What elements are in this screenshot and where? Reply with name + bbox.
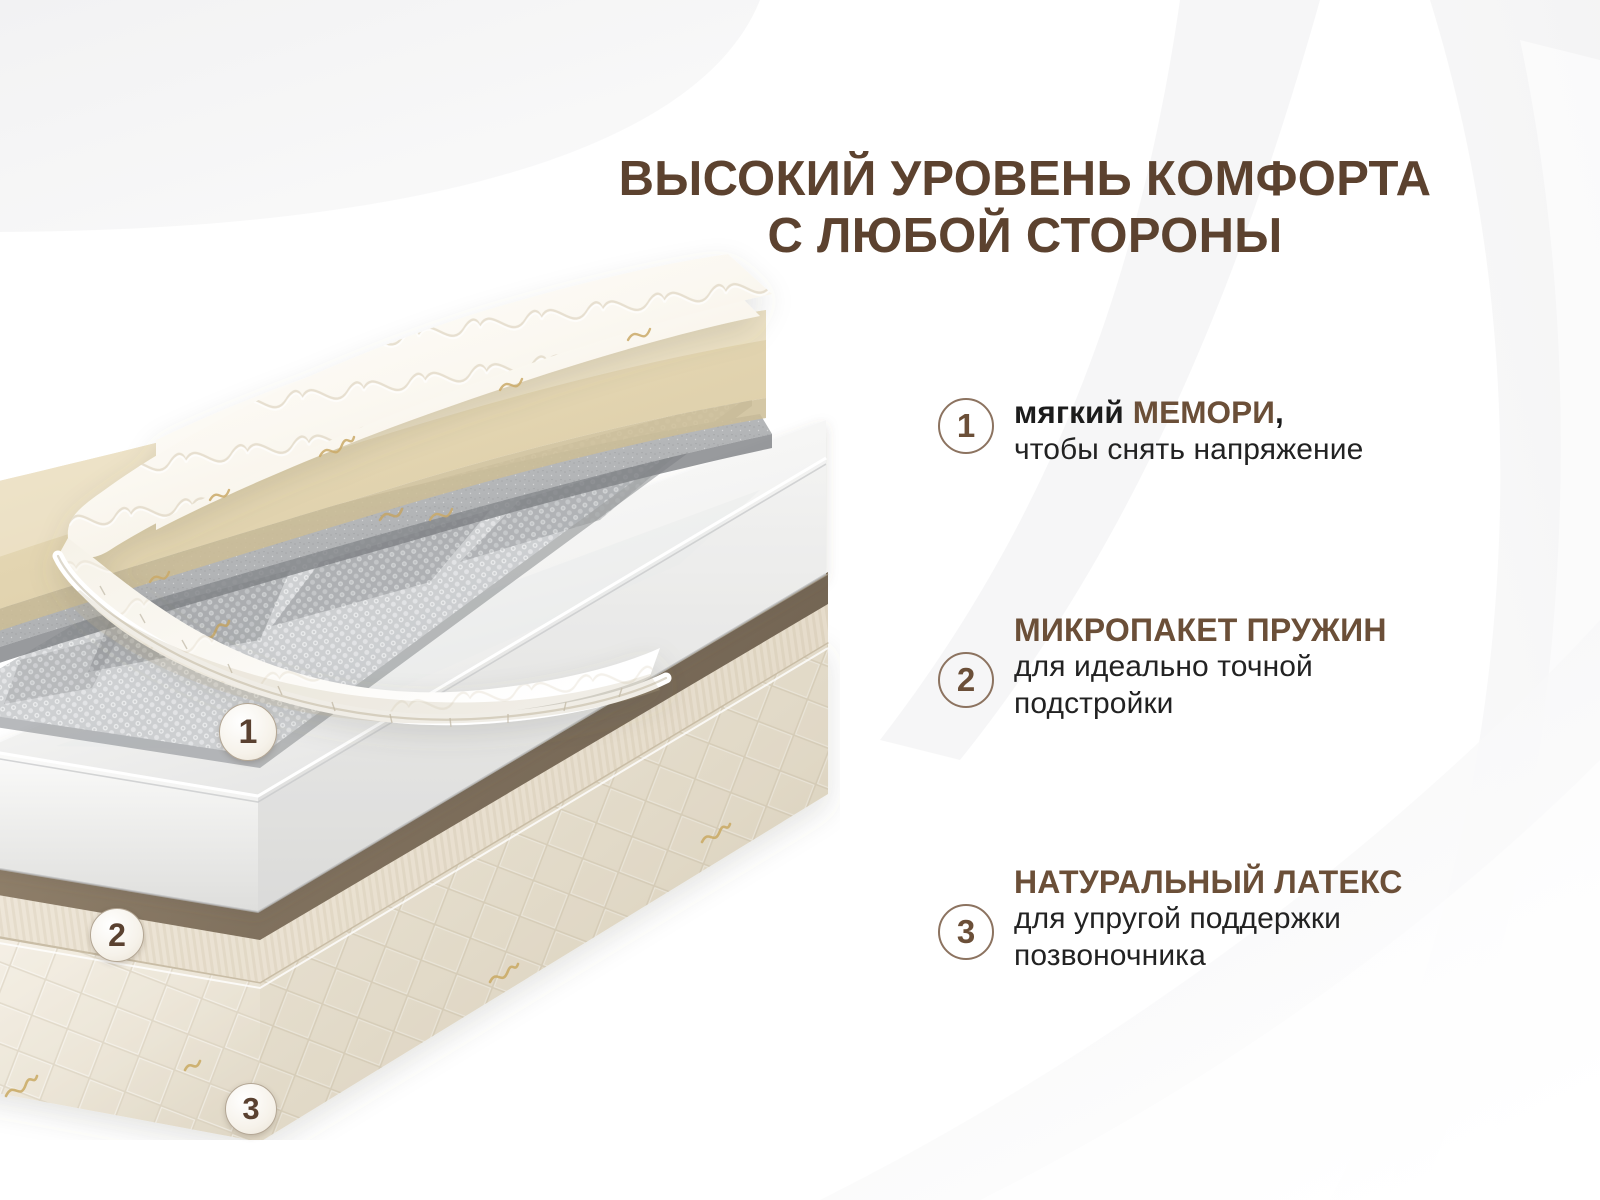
feature-badge-3: 3	[938, 904, 994, 960]
feature-title-1-tail: ,	[1275, 394, 1284, 430]
feature-title-1-accent: МЕМОРИ	[1133, 394, 1275, 430]
feature-text-1: мягкий МЕМОРИ, чтобы снять напряжение	[1014, 392, 1363, 468]
feature-title-3: НАТУРАЛЬНЫЙ ЛАТЕКС	[1014, 863, 1403, 901]
feature-title-1-plain: мягкий	[1014, 394, 1133, 430]
feature-title-2: МИКРОПАКЕТ ПРУЖИН	[1014, 611, 1387, 649]
feature-badge-1: 1	[938, 398, 994, 454]
page-title: ВЫСОКИЙ УРОВЕНЬ КОМФОРТА С ЛЮБОЙ СТОРОНЫ	[520, 151, 1530, 266]
feature-subtitle-3: для упругой поддержки позвоночника	[1014, 901, 1403, 974]
feature-item-springs: 2 МИКРОПАКЕТ ПРУЖИН для идеально точной …	[938, 610, 1387, 723]
feature-badge-2: 2	[938, 652, 994, 708]
mattress-marker-3: 3	[225, 1083, 277, 1135]
mattress-marker-2: 2	[90, 908, 144, 962]
mattress-cutaway-illustration: 1 2 3	[0, 190, 840, 1140]
feature-subtitle-1: чтобы снять напряжение	[1014, 432, 1363, 469]
mattress-marker-1: 1	[219, 703, 277, 761]
feature-item-latex: 3 НАТУРАЛЬНЫЙ ЛАТЕКС для упругой поддерж…	[938, 862, 1403, 975]
feature-item-memory: 1 мягкий МЕМОРИ, чтобы снять напряжение	[938, 392, 1363, 468]
feature-text-3: НАТУРАЛЬНЫЙ ЛАТЕКС для упругой поддержки…	[1014, 862, 1403, 975]
feature-text-2: МИКРОПАКЕТ ПРУЖИН для идеально точной по…	[1014, 610, 1387, 723]
feature-subtitle-2: для идеально точной подстройки	[1014, 649, 1387, 722]
feature-title-1: мягкий МЕМОРИ,	[1014, 393, 1363, 432]
